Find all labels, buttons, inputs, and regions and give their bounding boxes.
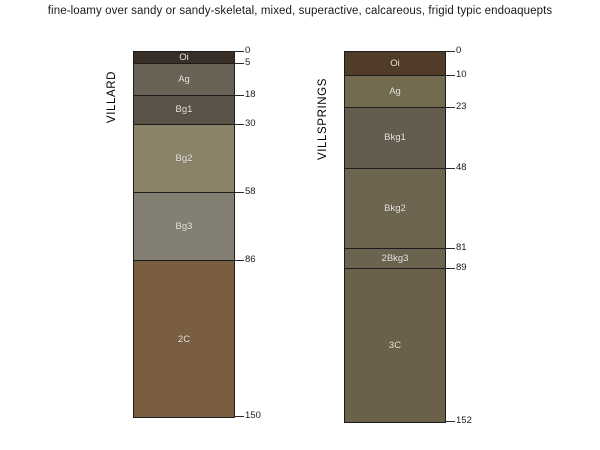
- horizon-label: Bg3: [176, 221, 193, 232]
- horizon-label: Bkg2: [384, 203, 406, 214]
- tick-leader-line: [445, 75, 455, 76]
- tick-leader-line: [445, 168, 455, 169]
- depth-value: 23: [456, 102, 467, 112]
- tick-leader-line: [234, 416, 244, 417]
- depth-value: 58: [245, 187, 256, 197]
- tick-leader-line: [234, 192, 244, 193]
- horizon-label: 3C: [389, 340, 401, 351]
- horizon-ag: Ag: [134, 64, 234, 96]
- horizon-bkg1: Bkg1: [345, 108, 445, 169]
- horizon-oi: Oi: [134, 52, 234, 64]
- tick-leader-line: [234, 260, 244, 261]
- horizon-oi: Oi: [345, 52, 445, 76]
- horizon-label: Bkg1: [384, 132, 406, 143]
- page-title: fine-loamy over sandy or sandy-skeletal,…: [0, 5, 600, 17]
- horizon-label: Oi: [179, 52, 189, 63]
- tick-leader-line: [234, 95, 244, 96]
- profile-column-villard: OiAgBg1Bg2Bg32C: [133, 51, 235, 418]
- tick-leader-line: [445, 51, 455, 52]
- depth-value: 89: [456, 263, 467, 273]
- horizon-label: 2C: [178, 334, 190, 345]
- profile-name-villard: VILLARD: [106, 71, 118, 123]
- horizon-bg1: Bg1: [134, 96, 234, 125]
- profile-name-villsprings: VILLSPRINGS: [317, 78, 329, 160]
- tick-leader-line: [234, 124, 244, 125]
- tick-leader-line: [234, 63, 244, 64]
- depth-value: 152: [456, 416, 472, 426]
- depth-value: 10: [456, 70, 467, 80]
- tick-leader-line: [445, 268, 455, 269]
- profile-column-villsprings: OiAgBkg1Bkg22Bkg33C: [344, 51, 446, 423]
- horizon-label: 2Bkg3: [382, 253, 409, 264]
- depth-value: 0: [245, 46, 250, 56]
- horizon-label: Bg2: [176, 153, 193, 164]
- horizon-bkg2: Bkg2: [345, 169, 445, 249]
- tick-leader-line: [445, 107, 455, 108]
- depth-value: 0: [456, 46, 461, 56]
- horizon-label: Bg1: [176, 104, 193, 115]
- depth-value: 18: [245, 90, 256, 100]
- horizon-label: Ag: [389, 86, 401, 97]
- horizon-label: Oi: [390, 58, 400, 69]
- tick-leader-line: [445, 421, 455, 422]
- horizon-bg2: Bg2: [134, 125, 234, 193]
- depth-value: 86: [245, 255, 256, 265]
- depth-value: 30: [245, 119, 256, 129]
- depth-value: 48: [456, 163, 467, 173]
- soil-profile-figure: fine-loamy over sandy or sandy-skeletal,…: [0, 0, 600, 450]
- horizon-2bkg3: 2Bkg3: [345, 249, 445, 268]
- horizon-2c: 2C: [134, 261, 234, 417]
- depth-value: 5: [245, 58, 250, 68]
- horizon-3c: 3C: [345, 269, 445, 422]
- horizon-bg3: Bg3: [134, 193, 234, 261]
- tick-leader-line: [234, 51, 244, 52]
- depth-value: 150: [245, 411, 261, 421]
- horizon-label: Ag: [178, 74, 190, 85]
- depth-value: 81: [456, 243, 467, 253]
- horizon-ag: Ag: [345, 76, 445, 108]
- tick-leader-line: [445, 248, 455, 249]
